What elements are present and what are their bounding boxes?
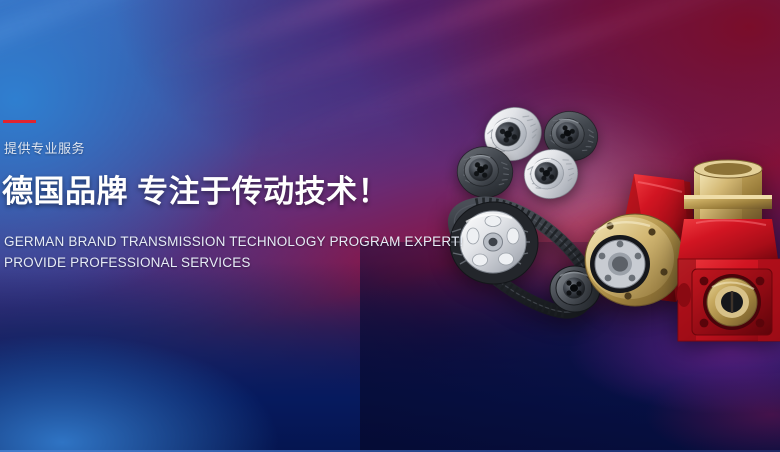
- banner-copy: 提供专业服务 德国品牌 专注于传动技术！ GERMAN BRAND TRANSM…: [2, 112, 422, 273]
- banner-english-line-1: GERMAN BRAND TRANSMISSION TECHNOLOGY PRO…: [4, 231, 422, 252]
- background-bottom-right-fade: [360, 242, 780, 452]
- banner-english-line-2: PROVIDE PROFESSIONAL SERVICES: [4, 252, 422, 273]
- promo-banner: 提供专业服务 德国品牌 专注于传动技术！ GERMAN BRAND TRANSM…: [0, 0, 780, 452]
- streak-pink-2: [161, 0, 780, 125]
- banner-kicker: 提供专业服务: [4, 141, 422, 157]
- banner-english-block: GERMAN BRAND TRANSMISSION TECHNOLOGY PRO…: [4, 231, 422, 273]
- accent-rule: [3, 120, 36, 123]
- banner-headline: 德国品牌 专注于传动技术！: [2, 173, 422, 211]
